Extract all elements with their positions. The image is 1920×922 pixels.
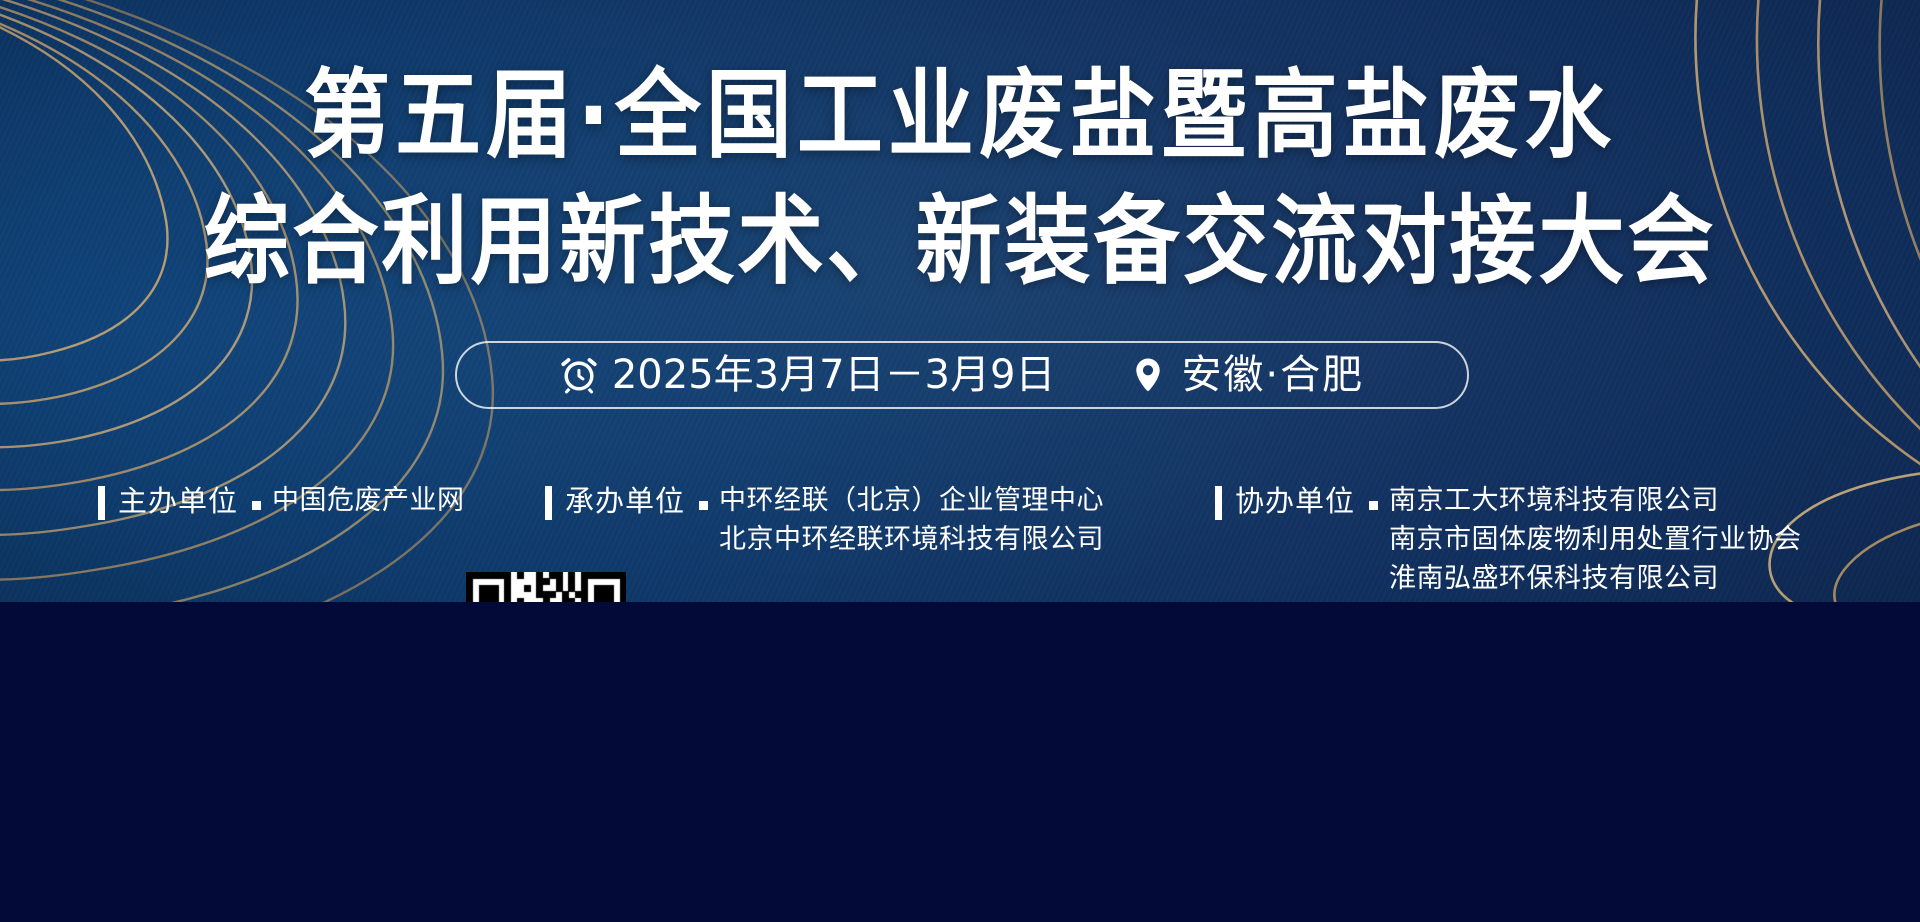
organizer-accent-bar (1215, 486, 1222, 520)
organizer-value: 南京工大环境科技有限公司 (1389, 481, 1802, 520)
event-location-text: 安徽·合肥 (1181, 355, 1364, 395)
organizer-value: 南京市固体废物利用处置行业协会 (1389, 520, 1802, 559)
organizer-values: 中国危废产业网 (272, 481, 465, 520)
organizer-value: 中国危废产业网 (272, 481, 465, 520)
organizer-bullet-icon (252, 501, 261, 510)
page-title-line-2: 综合利用新技术、新装备交流对接大会 (0, 184, 1920, 300)
organizer-group-host: 主办单位 中国危废产业网 (98, 481, 465, 521)
organizer-group-supporter: 协办单位 南京工大环境科技有限公司 南京市固体废物利用处置行业协会 淮南弘盛环保… (1215, 481, 1802, 598)
organizer-label: 主办单位 (118, 481, 238, 521)
organizer-accent-bar (545, 486, 552, 520)
page-title-line-1: 第五届·全国工业废盐暨高盐废水 (0, 58, 1920, 174)
page-body-area (0, 602, 1920, 922)
organizer-accent-bar (98, 486, 105, 520)
qr-code[interactable] (466, 572, 626, 602)
event-date: 2025年3月7日－3月9日 (560, 355, 1056, 395)
organizer-label: 协办单位 (1235, 481, 1355, 521)
organizer-value: 淮南弘盛环保科技有限公司 (1389, 559, 1802, 598)
event-meta-pill: 2025年3月7日－3月9日 安徽·合肥 (455, 341, 1469, 409)
banner-title-block: 第五届·全国工业废盐暨高盐废水 综合利用新技术、新装备交流对接大会 (0, 58, 1920, 288)
map-pin-icon (1129, 356, 1167, 394)
qr-code-image (466, 572, 626, 602)
organizer-values: 南京工大环境科技有限公司 南京市固体废物利用处置行业协会 淮南弘盛环保科技有限公… (1389, 481, 1802, 598)
organizer-group-coorganizer: 承办单位 中环经联（北京）企业管理中心 北京中环经联环境科技有限公司 (545, 481, 1104, 559)
event-banner: 第五届·全国工业废盐暨高盐废水 综合利用新技术、新装备交流对接大会 2025年3… (0, 0, 1920, 602)
alarm-clock-icon (560, 356, 598, 394)
organizer-value: 北京中环经联环境科技有限公司 (719, 520, 1104, 559)
event-date-text: 2025年3月7日－3月9日 (612, 355, 1056, 395)
page-root: 第五届·全国工业废盐暨高盐废水 综合利用新技术、新装备交流对接大会 2025年3… (0, 0, 1920, 922)
organizer-value: 中环经联（北京）企业管理中心 (719, 481, 1104, 520)
organizer-bullet-icon (1369, 501, 1378, 510)
organizer-label: 承办单位 (565, 481, 685, 521)
event-location: 安徽·合肥 (1129, 355, 1364, 395)
organizer-list: 主办单位 中国危废产业网 承办单位 中环经联（北京）企业管理中心 北京中环经联环… (0, 481, 1920, 601)
organizer-values: 中环经联（北京）企业管理中心 北京中环经联环境科技有限公司 (719, 481, 1104, 559)
organizer-bullet-icon (699, 501, 708, 510)
